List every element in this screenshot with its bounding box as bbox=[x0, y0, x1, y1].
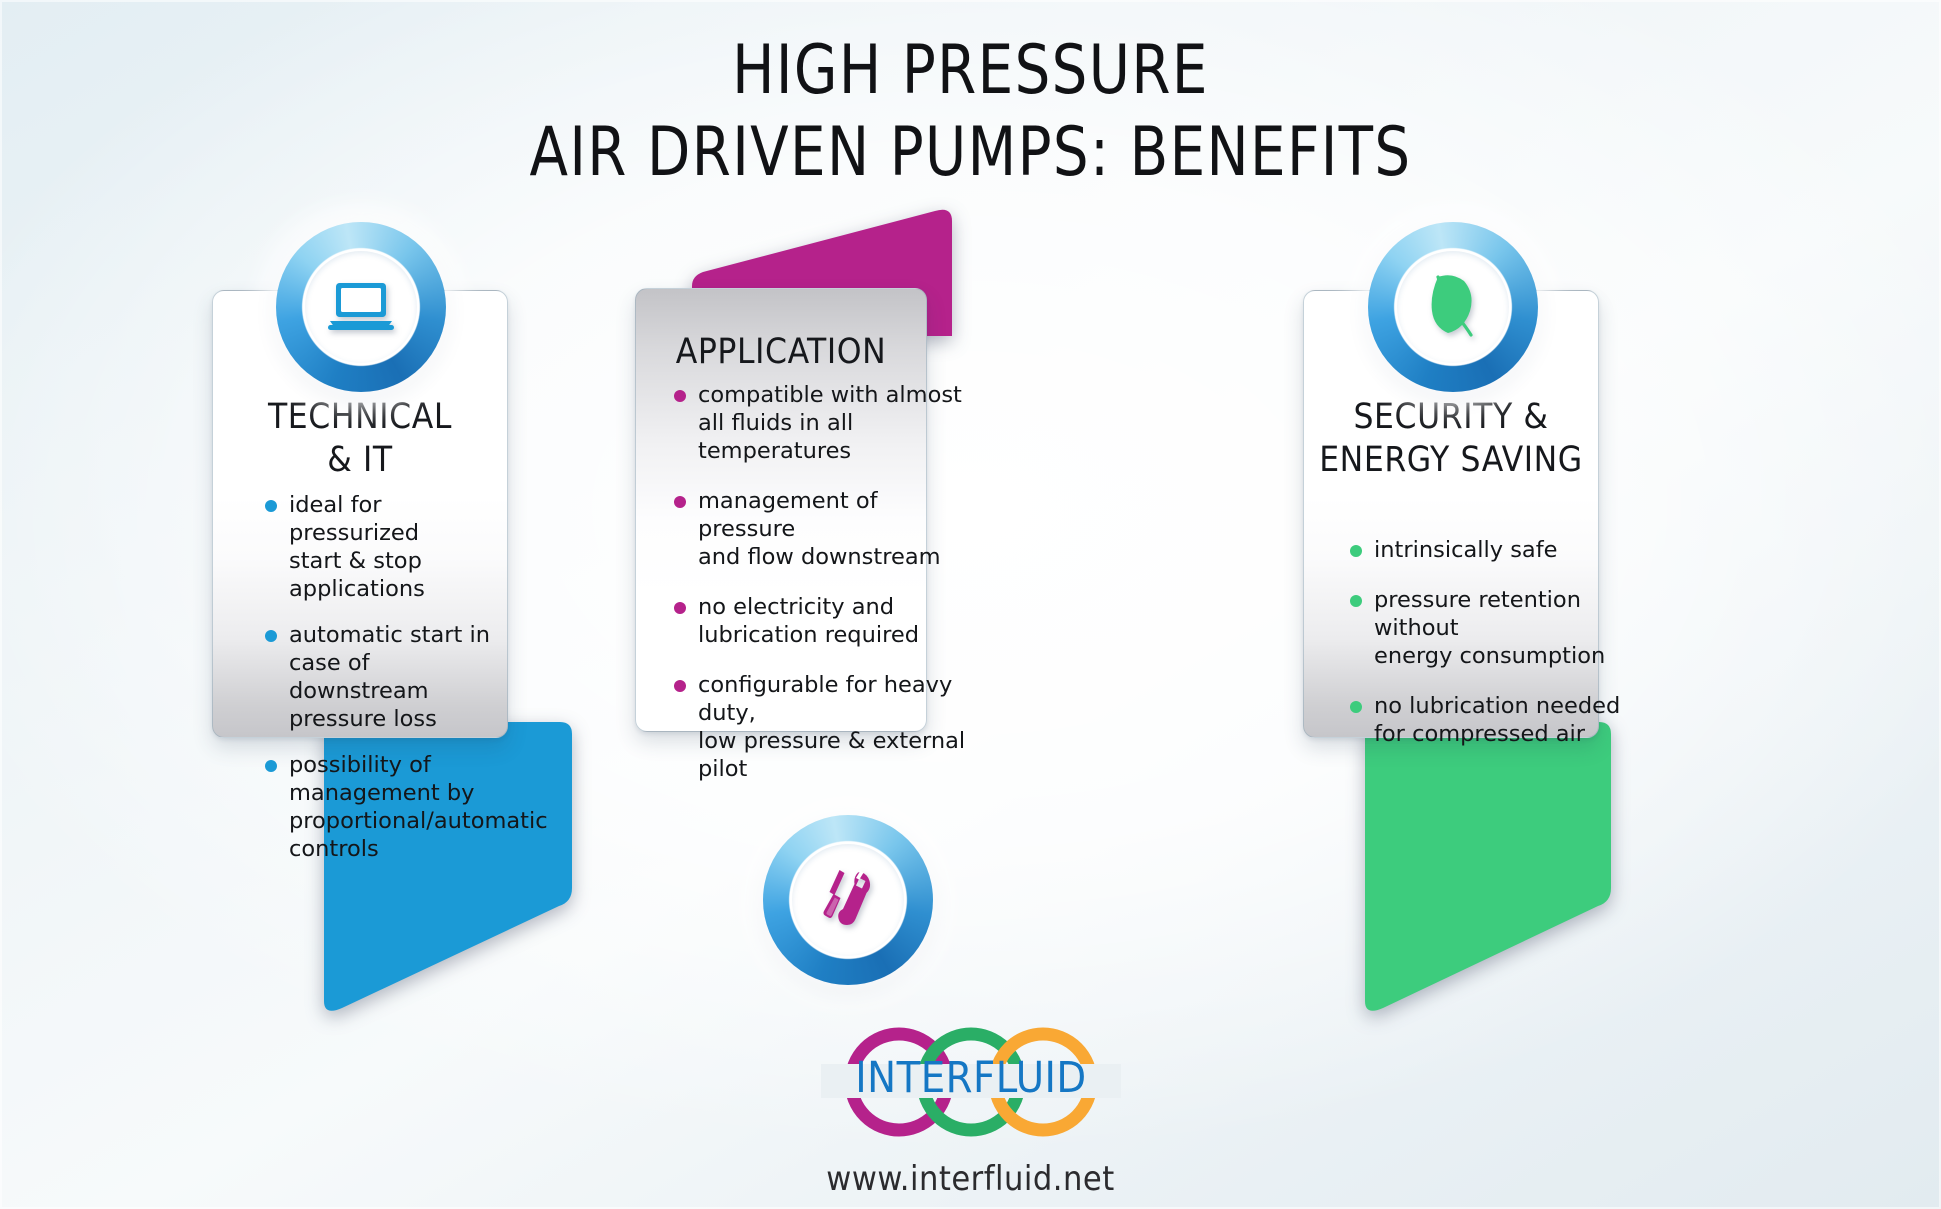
list-item-label: management of pressure and flow downstre… bbox=[698, 488, 941, 570]
bullet-dot-icon bbox=[1350, 701, 1362, 713]
card-title-line-2: ENERGY SAVING bbox=[1296, 439, 1606, 482]
list-item-label: configurable for heavy duty, low pressur… bbox=[698, 672, 965, 782]
bullet-dot-icon bbox=[674, 496, 686, 508]
list-item: no electricity and lubrication required bbox=[668, 593, 968, 649]
svg-text:INTERFLUID: INTERFLUID bbox=[855, 1053, 1086, 1103]
bullet-dot-icon bbox=[674, 680, 686, 692]
page-title: HIGH PRESSURE AIR DRIVEN PUMPS: BENEFITS bbox=[0, 30, 1941, 194]
list-item: management of pressure and flow downstre… bbox=[668, 487, 968, 571]
list-item: compatible with almost all fluids in all… bbox=[668, 381, 968, 465]
bullet-dot-icon bbox=[674, 602, 686, 614]
infographic-canvas: HIGH PRESSURE AIR DRIVEN PUMPS: BENEFITS… bbox=[0, 0, 1941, 1209]
bullet-list-technical-it: ideal for pressurized start & stop appli… bbox=[259, 491, 497, 863]
card-title-line-1: TECHNICAL bbox=[213, 396, 507, 439]
list-item: possibility of management by proportiona… bbox=[259, 751, 497, 863]
website-url[interactable]: www.interfluid.net bbox=[736, 1159, 1206, 1199]
card-title-line-1: SECURITY & bbox=[1296, 396, 1606, 439]
list-item: no lubrication needed for compressed air bbox=[1344, 692, 1626, 748]
bullet-list-application: compatible with almost all fluids in all… bbox=[668, 381, 968, 783]
list-item: pressure retention without energy consum… bbox=[1344, 586, 1626, 670]
list-item: ideal for pressurized start & stop appli… bbox=[259, 491, 497, 603]
list-item-label: compatible with almost all fluids in all… bbox=[698, 382, 962, 464]
page-title-line-1: HIGH PRESSURE bbox=[78, 30, 1864, 112]
bullet-dot-icon bbox=[265, 500, 277, 512]
bullet-dot-icon bbox=[1350, 595, 1362, 607]
laptop-icon bbox=[305, 251, 417, 363]
bullet-dot-icon bbox=[1350, 545, 1362, 557]
list-item-label: no lubrication needed for compressed air bbox=[1374, 693, 1620, 747]
list-item: intrinsically safe bbox=[1344, 536, 1626, 564]
bullet-dot-icon bbox=[265, 630, 277, 642]
list-item-label: ideal for pressurized start & stop appli… bbox=[289, 492, 425, 602]
list-item: configurable for heavy duty, low pressur… bbox=[668, 671, 968, 783]
list-item: automatic start in case of downstream pr… bbox=[259, 621, 497, 733]
card-application[interactable]: APPLICATION compatible with almost all f… bbox=[635, 288, 927, 732]
bullet-dot-icon bbox=[674, 390, 686, 402]
card-title-line-1: APPLICATION bbox=[636, 331, 926, 374]
bullet-list-security-energy: intrinsically safe pressure retention wi… bbox=[1344, 536, 1626, 748]
icon-ring-application bbox=[763, 815, 933, 985]
page-title-line-2: AIR DRIVEN PUMPS: BENEFITS bbox=[78, 112, 1864, 194]
tools-icon bbox=[792, 844, 904, 956]
interfluid-logo-mark: INTERFLUID bbox=[821, 1022, 1121, 1157]
icon-ring-security-energy bbox=[1368, 222, 1538, 392]
leaf-icon bbox=[1397, 251, 1509, 363]
card-title-application: APPLICATION bbox=[636, 331, 926, 374]
bullet-dot-icon bbox=[265, 760, 277, 772]
list-item-label: pressure retention without energy consum… bbox=[1374, 587, 1605, 669]
list-item-label: intrinsically safe bbox=[1374, 537, 1557, 563]
list-item-label: no electricity and lubrication required bbox=[698, 594, 919, 648]
icon-ring-technical-it bbox=[276, 222, 446, 392]
ribbon-green bbox=[1359, 720, 1617, 1020]
list-item-label: automatic start in case of downstream pr… bbox=[289, 622, 490, 732]
card-title-technical-it: TECHNICAL & IT bbox=[213, 396, 507, 482]
brand-logo[interactable]: INTERFLUID www.interfluid.net bbox=[736, 1022, 1206, 1199]
card-title-security-energy: SECURITY & ENERGY SAVING bbox=[1296, 396, 1606, 482]
card-title-line-2: & IT bbox=[213, 439, 507, 482]
